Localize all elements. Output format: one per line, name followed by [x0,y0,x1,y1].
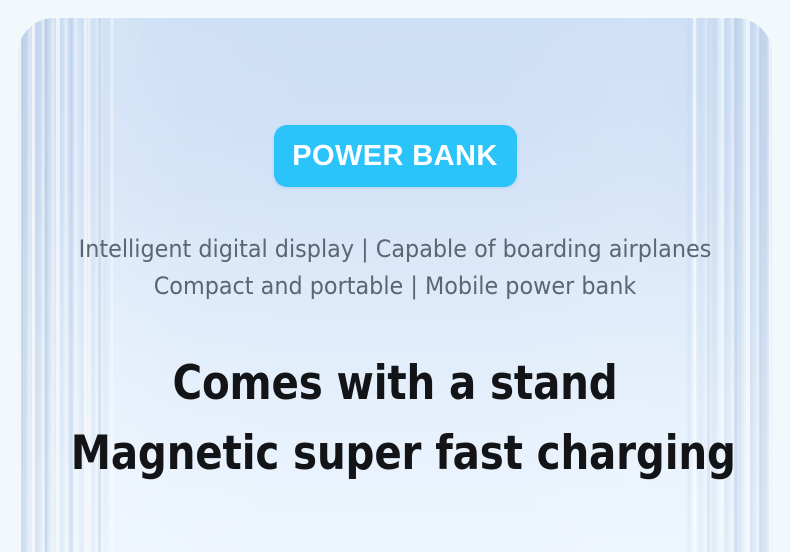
product-banner: POWER BANK Intelligent digital display |… [0,0,790,552]
subtitle-line-1: Intelligent digital display | Capable of… [44,231,745,268]
product-card: POWER BANK Intelligent digital display |… [18,18,772,552]
power-bank-badge: POWER BANK [274,125,517,187]
power-bank-badge-label: POWER BANK [292,140,497,173]
subtitle-line-2: Compact and portable | Mobile power bank [44,268,745,305]
banner-content: POWER BANK Intelligent digital display |… [18,18,772,552]
headline-line-2: Magnetic super fast charging [71,419,719,489]
headline-block: Comes with a stand Magnetic super fast c… [18,349,772,489]
headline-line-1: Comes with a stand [71,349,719,419]
subtitle-block: Intelligent digital display | Capable of… [18,231,772,305]
